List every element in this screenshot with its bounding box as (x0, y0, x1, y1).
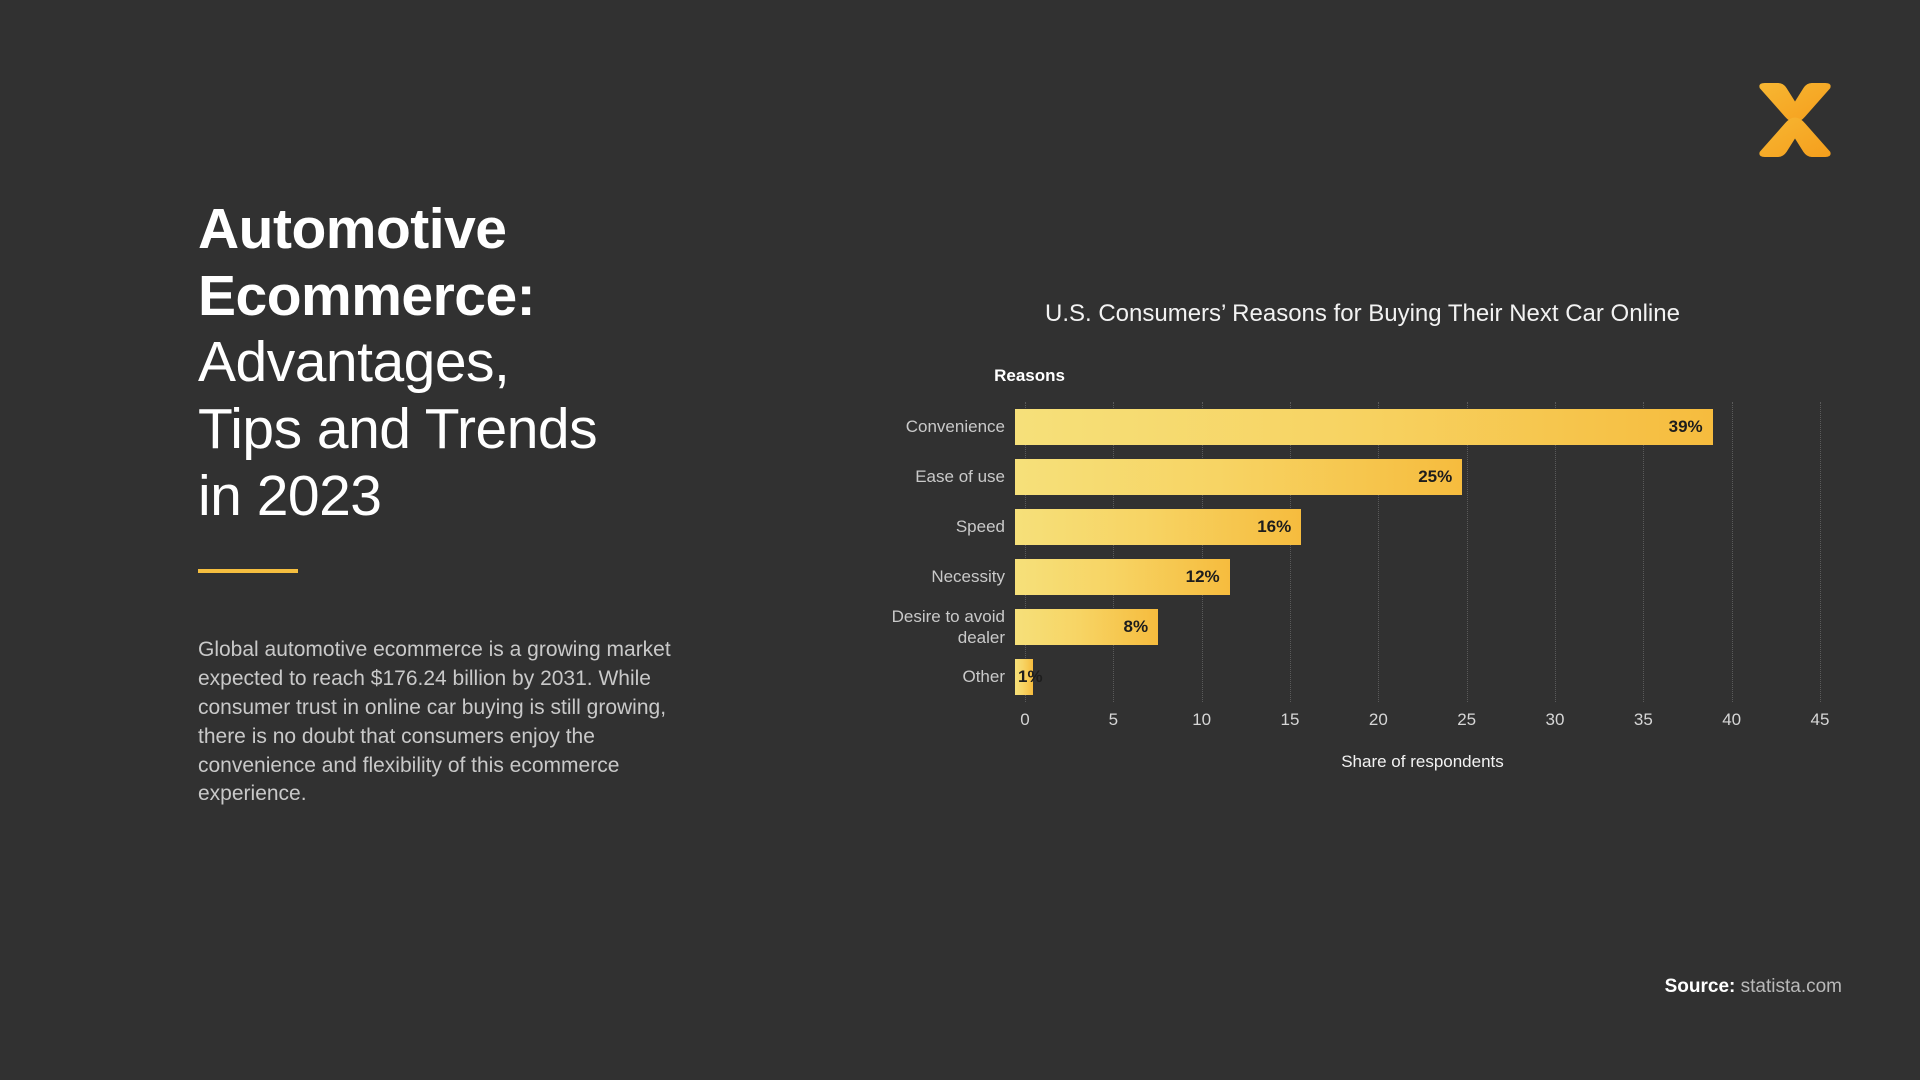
bar-track: 1% (1015, 659, 1820, 695)
x-tick-label: 45 (1811, 710, 1830, 730)
category-label: Necessity (860, 566, 1015, 587)
bar-value-label: 1% (1015, 667, 1043, 687)
bar-value-label: 39% (1669, 417, 1713, 437)
bar-track: 16% (1015, 509, 1820, 545)
bar-row: Convenience39% (860, 402, 1820, 452)
left-panel: Automotive Ecommerce: Advantages, Tips a… (198, 196, 698, 809)
title-bold-line-1: Automotive (198, 196, 698, 263)
y-axis-title: Reasons (994, 366, 1065, 386)
x-tick-label: 0 (1020, 710, 1029, 730)
x-tick-label: 5 (1109, 710, 1118, 730)
gridline (1820, 402, 1821, 702)
bar[interactable]: 16% (1015, 509, 1301, 545)
intro-paragraph: Global automotive ecommerce is a growing… (198, 636, 698, 809)
chart-axis-header: Reasons (860, 366, 1820, 392)
bar-value-label: 8% (1124, 617, 1159, 637)
x-tick-label: 25 (1457, 710, 1476, 730)
bar-rows: Convenience39%Ease of use25%Speed16%Nece… (860, 402, 1820, 702)
source-value: statista.com (1741, 976, 1842, 997)
bar[interactable]: 1% (1015, 659, 1033, 695)
bar[interactable]: 25% (1015, 459, 1462, 495)
bar[interactable]: 39% (1015, 409, 1713, 445)
title-light-line-2: Tips and Trends (198, 396, 698, 463)
plot-area: Convenience39%Ease of use25%Speed16%Nece… (860, 402, 1820, 702)
slide-root: Automotive Ecommerce: Advantages, Tips a… (0, 0, 1920, 1080)
category-label: Speed (860, 516, 1015, 537)
category-label: Desire to avoid dealer (860, 606, 1015, 649)
x-tick-label: 30 (1546, 710, 1565, 730)
source-label: Source: (1665, 976, 1736, 997)
bar-row: Other1% (860, 652, 1820, 702)
category-label: Ease of use (860, 466, 1015, 487)
title-light-line-3: in 2023 (198, 463, 698, 530)
accent-divider (198, 569, 298, 573)
x-tick-label: 35 (1634, 710, 1653, 730)
title-bold-line-2: Ecommerce: (198, 263, 698, 330)
bar-row: Ease of use25% (860, 452, 1820, 502)
x-axis: 051015202530354045 (1025, 702, 1820, 736)
bar-value-label: 25% (1418, 467, 1462, 487)
bar-row: Desire to avoid dealer8% (860, 602, 1820, 652)
page-title: Automotive Ecommerce: Advantages, Tips a… (198, 196, 698, 529)
bar-value-label: 16% (1257, 517, 1301, 537)
title-light-line-1: Advantages, (198, 329, 698, 396)
brand-x-logo (1753, 78, 1837, 162)
bar-track: 25% (1015, 459, 1820, 495)
bar-row: Necessity12% (860, 552, 1820, 602)
bar-track: 39% (1015, 409, 1820, 445)
bar[interactable]: 8% (1015, 609, 1158, 645)
chart-title: U.S. Consumers’ Reasons for Buying Their… (1045, 300, 1820, 328)
bar-row: Speed16% (860, 502, 1820, 552)
x-tick-label: 40 (1722, 710, 1741, 730)
x-axis-title: Share of respondents (1025, 752, 1820, 772)
bar-chart: U.S. Consumers’ Reasons for Buying Their… (860, 300, 1820, 772)
x-tick-label: 10 (1192, 710, 1211, 730)
bar-value-label: 12% (1186, 567, 1230, 587)
bar[interactable]: 12% (1015, 559, 1230, 595)
category-label: Convenience (860, 416, 1015, 437)
x-tick-label: 15 (1281, 710, 1300, 730)
bar-track: 8% (1015, 609, 1820, 645)
bar-track: 12% (1015, 559, 1820, 595)
x-tick-label: 20 (1369, 710, 1388, 730)
source-note: Source: statista.com (1665, 976, 1842, 998)
category-label: Other (860, 666, 1015, 687)
